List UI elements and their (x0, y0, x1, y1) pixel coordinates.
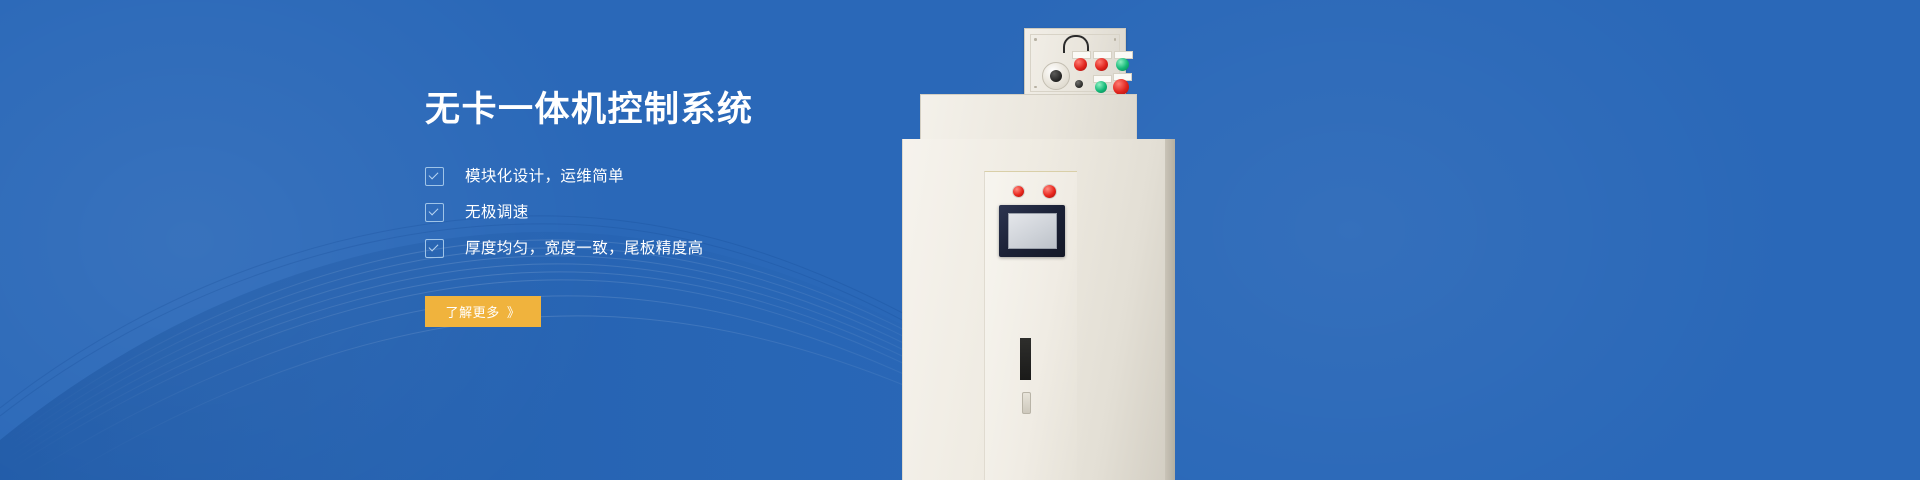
control-panel-box (1024, 28, 1126, 98)
checkbox-checked-icon (425, 239, 444, 258)
hmi-screen-surface (1008, 213, 1057, 249)
control-panel-face (1030, 34, 1120, 92)
checkbox-checked-icon (425, 203, 444, 222)
screw-icon (1034, 86, 1037, 89)
indicator-lamp-dark[interactable] (1075, 80, 1083, 88)
indicator-lamp-green-2[interactable] (1095, 81, 1107, 93)
feature-label: 无极调速 (465, 205, 529, 221)
cabinet-riser (920, 94, 1137, 143)
rotary-selector-knob[interactable] (1042, 62, 1070, 90)
push-button-red-1[interactable] (1013, 186, 1024, 197)
learn-more-button[interactable]: 了解更多 》 (425, 296, 541, 327)
feature-label: 厚度均匀，宽度一致，尾板精度高 (465, 241, 704, 257)
door-handle[interactable] (1022, 392, 1031, 414)
emergency-stop-button[interactable] (1113, 79, 1129, 95)
indicator-lamp-red-2[interactable] (1095, 58, 1108, 71)
hmi-touchscreen[interactable] (999, 205, 1065, 257)
indicator-lamp-red-1[interactable] (1074, 58, 1087, 71)
indicator-lamp-green-1[interactable] (1116, 58, 1129, 71)
feature-label: 模块化设计，运维简单 (465, 169, 624, 185)
checkbox-checked-icon (425, 167, 444, 186)
screw-icon (1114, 38, 1117, 41)
push-button-red-2[interactable] (1043, 185, 1056, 198)
hero-banner: 无卡一体机控制系统 模块化设计，运维简单 无极调速 厚度均匀，宽度一致，尾板精度… (0, 0, 1920, 480)
vent-slot (1020, 338, 1031, 380)
cabinet-right-edge (1165, 139, 1175, 480)
learn-more-label: 了解更多 (445, 302, 499, 321)
screw-icon (1034, 38, 1037, 41)
product-image (900, 0, 1175, 480)
chevron-right-icon: 》 (507, 302, 521, 321)
